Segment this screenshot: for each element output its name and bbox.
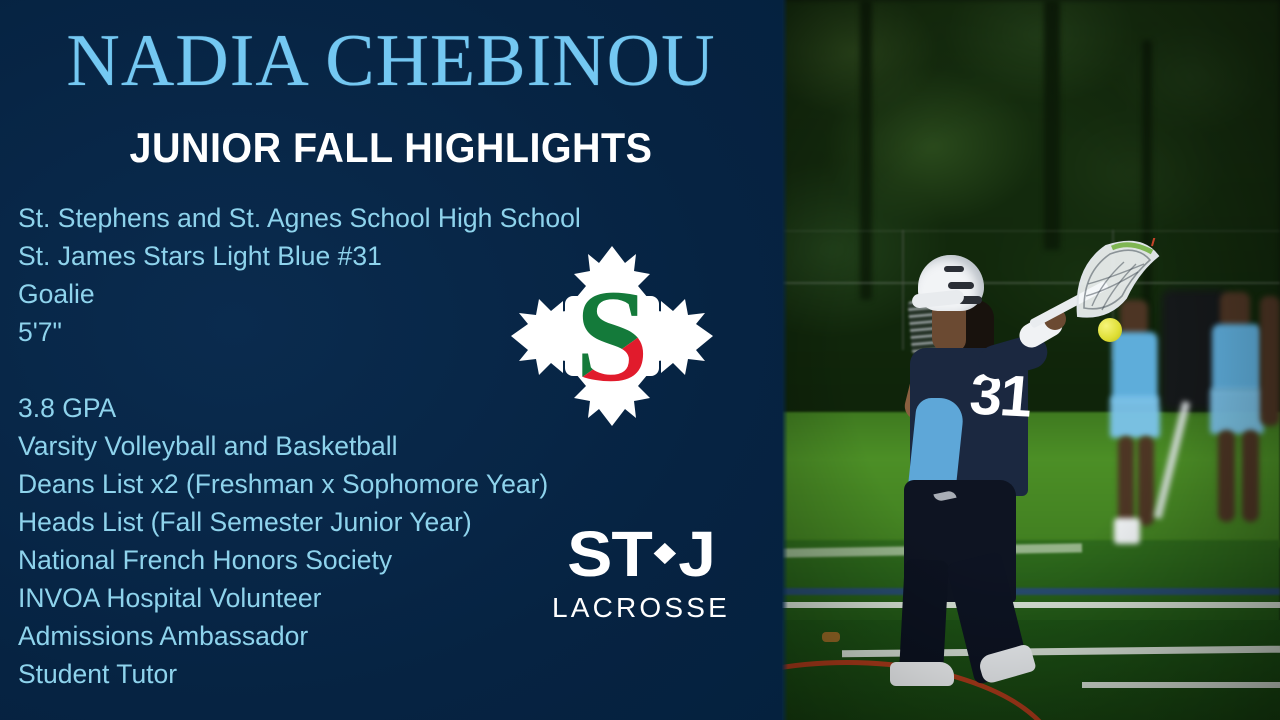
- field-marker: [822, 632, 840, 642]
- bg-player-jersey: [1212, 324, 1262, 392]
- fence-post: [902, 230, 904, 350]
- field-line-blue: [782, 588, 1280, 595]
- info-panel: NADIA CHEBINOU JUNIOR FALL HIGHLIGHTS St…: [0, 0, 782, 720]
- bio-item-club: St. James Stars Light Blue #31: [18, 237, 581, 275]
- bio-item-school: St. Stephens and St. Agnes School High S…: [18, 199, 581, 237]
- turf-far: [782, 412, 1280, 548]
- bg-player-leg: [1218, 430, 1235, 522]
- player-leg-back: [899, 559, 949, 673]
- bg-player-cleat: [1114, 518, 1140, 544]
- bg-player-leg: [1242, 430, 1259, 522]
- bg-player-skirt: [1210, 388, 1264, 434]
- stj-wordmark-left: ST: [567, 518, 652, 590]
- bio-list: St. Stephens and St. Agnes School High S…: [18, 199, 581, 351]
- diamond-dot-icon: [654, 542, 676, 563]
- field-line: [1082, 682, 1280, 688]
- tree-trunk: [1044, 0, 1060, 250]
- school-crest-icon: S S: [505, 240, 719, 432]
- highlight-reel-title-card: NADIA CHEBINOU JUNIOR FALL HIGHLIGHTS St…: [0, 0, 1280, 720]
- helmet-vent: [944, 266, 964, 272]
- field-line: [782, 602, 1280, 608]
- bg-player-leg: [1138, 436, 1154, 526]
- stj-sport-label: LACROSSE: [536, 592, 746, 624]
- lacrosse-stick-head: [1068, 238, 1164, 324]
- achievement-item-tutor: Student Tutor: [18, 655, 548, 693]
- tree-trunk: [860, 0, 872, 300]
- achievement-item-ambassador: Admissions Ambassador: [18, 617, 548, 655]
- bg-player-skirt: [1110, 396, 1160, 438]
- bg-player-jersey: [1112, 332, 1158, 402]
- athlete-name: NADIA CHEBINOU: [0, 24, 782, 98]
- fence-rail: [782, 282, 1280, 284]
- achievement-item-gpa: 3.8 GPA: [18, 389, 548, 427]
- bg-player-leg: [1118, 436, 1134, 526]
- bg-player-partial: [1260, 296, 1280, 426]
- achievements-list: 3.8 GPA Varsity Volleyball and Basketbal…: [18, 389, 548, 693]
- photo-left-edge: [782, 0, 788, 720]
- bg-player-head: [1220, 292, 1250, 328]
- helmet-vent: [948, 282, 974, 289]
- stj-wordmark-right: J: [678, 518, 715, 590]
- achievement-item-french: National French Honors Society: [18, 541, 548, 579]
- achievement-item-heads-list: Heads List (Fall Semester Junior Year): [18, 503, 548, 541]
- lacrosse-action-photo: 31: [782, 0, 1280, 720]
- stj-lacrosse-logo: STJ LACROSSE: [536, 522, 746, 634]
- achievement-item-sports: Varsity Volleyball and Basketball: [18, 427, 548, 465]
- achievement-item-deans-list: Deans List x2 (Freshman x Sophomore Year…: [18, 465, 548, 503]
- fence-rail: [782, 230, 1280, 232]
- achievement-item-volunteer: INVOA Hospital Volunteer: [18, 579, 548, 617]
- lacrosse-ball: [1098, 318, 1122, 342]
- bio-item-position: Goalie: [18, 275, 581, 313]
- highlights-subtitle: JUNIOR FALL HIGHLIGHTS: [23, 124, 758, 172]
- bio-item-height: 5'7": [18, 313, 581, 351]
- player-cleat-back: [890, 662, 954, 686]
- stj-wordmark: STJ: [530, 522, 753, 586]
